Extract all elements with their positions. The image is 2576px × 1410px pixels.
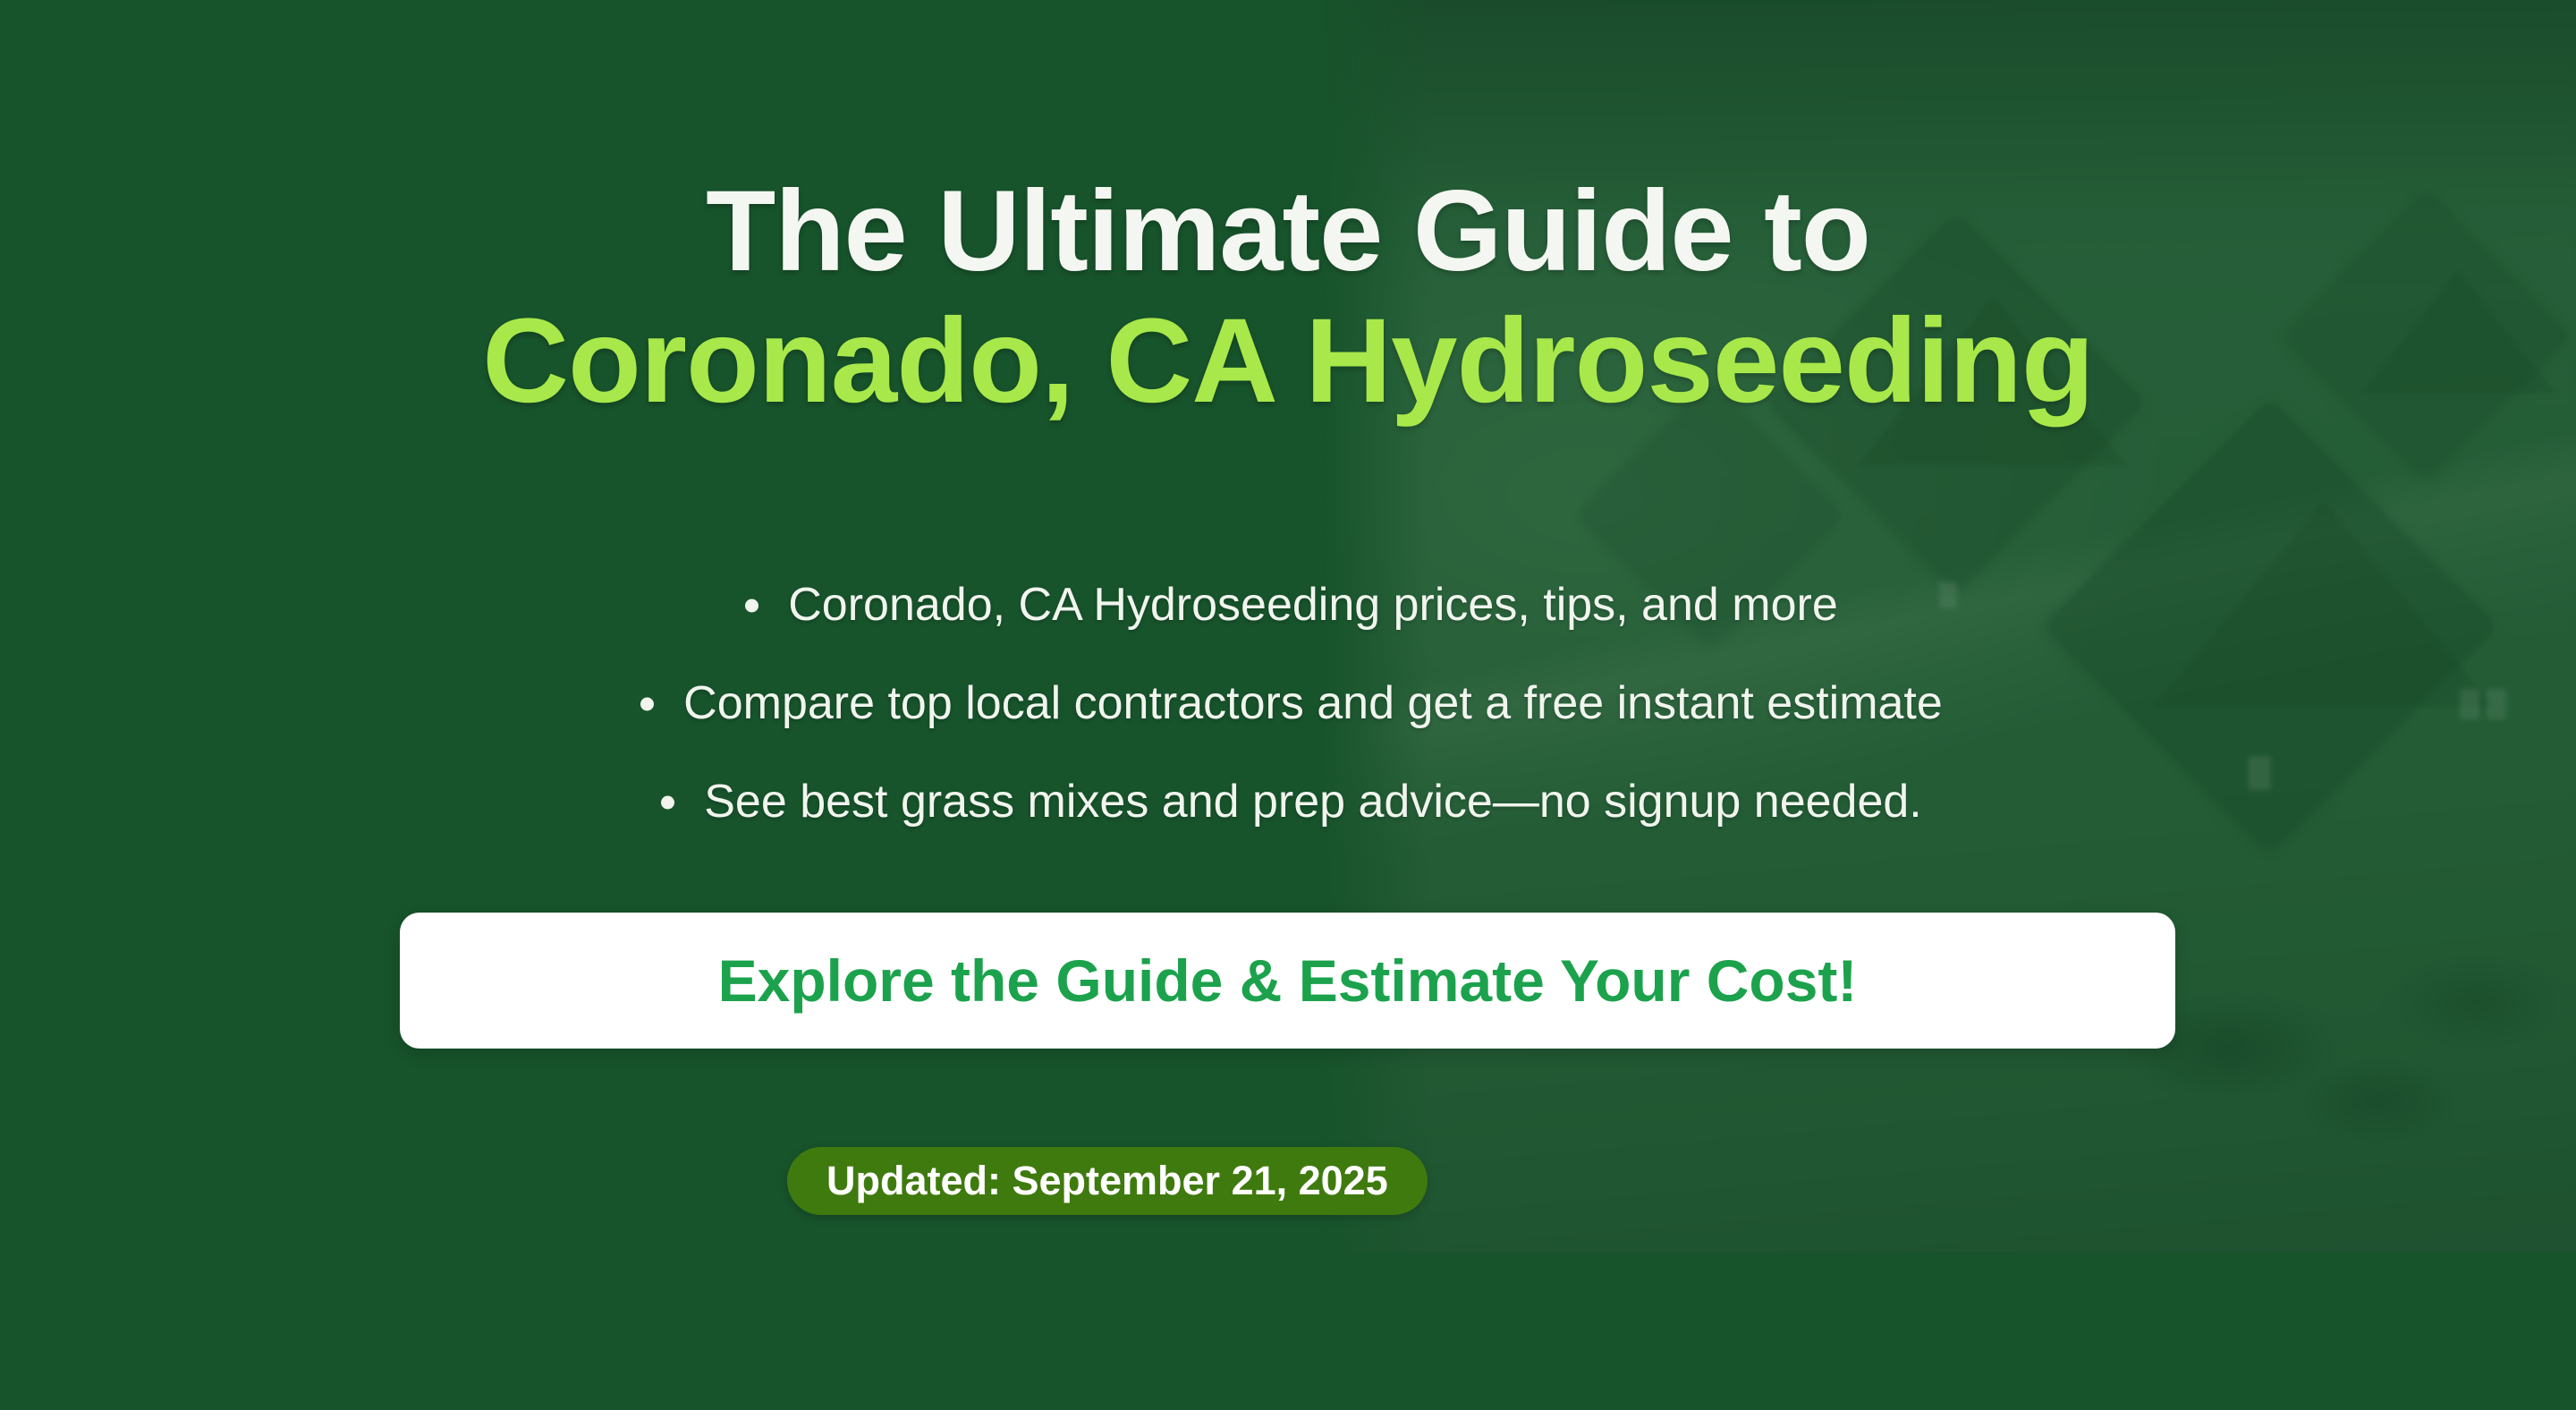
headline-line-1: The Ultimate Guide to bbox=[0, 170, 2576, 293]
hero-banner: The Ultimate Guide to Coronado, CA Hydro… bbox=[0, 0, 2576, 1410]
list-item-label: Coronado, CA Hydroseeding prices, tips, … bbox=[738, 580, 1838, 631]
updated-date-badge: Updated: September 21, 2025 bbox=[787, 1147, 1428, 1215]
explore-guide-button[interactable]: Explore the Guide & Estimate Your Cost! bbox=[400, 913, 2175, 1049]
headline-line-2: Coronado, CA Hydroseeding bbox=[0, 297, 2576, 427]
page-title: The Ultimate Guide to Coronado, CA Hydro… bbox=[0, 170, 2576, 427]
list-item: Coronado, CA Hydroseeding prices, tips, … bbox=[0, 580, 2576, 631]
list-item: Compare top local contractors and get a … bbox=[0, 678, 2576, 729]
list-item-label: Compare top local contractors and get a … bbox=[633, 678, 1943, 729]
list-item: See best grass mixes and prep advice—no … bbox=[0, 777, 2576, 828]
benefits-list: Coronado, CA Hydroseeding prices, tips, … bbox=[0, 580, 2576, 876]
list-item-label: See best grass mixes and prep advice—no … bbox=[654, 777, 1922, 828]
